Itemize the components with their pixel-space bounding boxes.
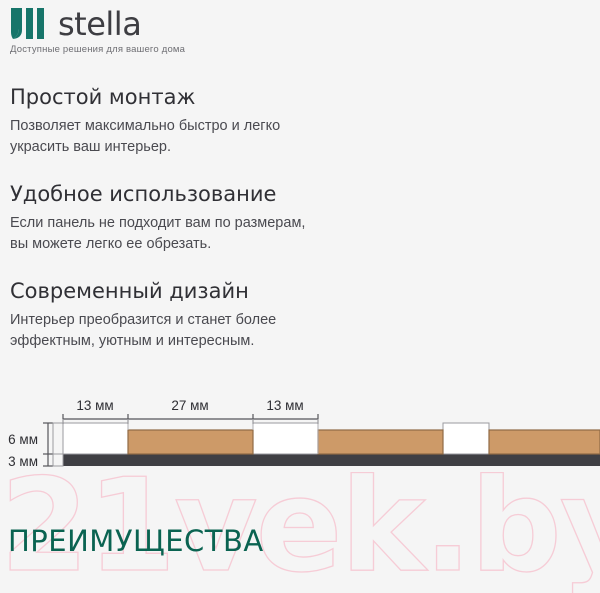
brand-name: stella xyxy=(58,8,141,40)
diagram-wood-slat xyxy=(489,430,600,454)
diagram-width-label-3: 13 мм xyxy=(266,398,303,413)
product-info-page: stella Доступные решения для вашего дома… xyxy=(0,0,600,593)
diagram-height-label-3mm: 3 мм xyxy=(8,454,38,469)
feature-title: Современный дизайн xyxy=(10,278,440,304)
feature-item: Удобное использование Если панель не под… xyxy=(10,181,440,255)
diagram-base-layer xyxy=(63,454,600,466)
section-heading-advantages: ПРЕИМУЩЕСТВА xyxy=(8,524,264,558)
diagram-width-label-1: 13 мм xyxy=(76,398,113,413)
diagram-height-label-6mm: 6 мм xyxy=(8,432,38,447)
feature-title: Удобное использование xyxy=(10,181,440,207)
brand-row: stella xyxy=(10,6,410,40)
feature-title: Простой монтаж xyxy=(10,84,440,110)
stella-bars-logo-icon xyxy=(10,8,50,40)
diagram-width-label-2: 27 мм xyxy=(171,398,208,413)
feature-item: Простой монтаж Позволяет максимально быс… xyxy=(10,84,440,158)
feature-description: Интерьер преобразится и станет более эфф… xyxy=(10,310,440,352)
panel-cross-section-diagram: 13 мм 27 мм 13 мм 6 мм 3 мм xyxy=(0,392,600,478)
diagram-wood-slat xyxy=(318,430,443,454)
brand-header: stella Доступные решения для вашего дома xyxy=(10,6,410,55)
feature-item: Современный дизайн Интерьер преобразится… xyxy=(10,278,440,352)
diagram-gap-1 xyxy=(63,423,128,454)
diagram-gap-3 xyxy=(443,423,489,454)
diagram-gap-2 xyxy=(253,423,318,454)
feature-description: Если панель не подходит вам по размерам,… xyxy=(10,213,440,255)
diagram-wood-slat xyxy=(128,430,253,454)
feature-description: Позволяет максимально быстро и легко укр… xyxy=(10,116,440,158)
feature-list: Простой монтаж Позволяет максимально быс… xyxy=(10,84,440,375)
brand-tagline: Доступные решения для вашего дома xyxy=(10,44,410,55)
